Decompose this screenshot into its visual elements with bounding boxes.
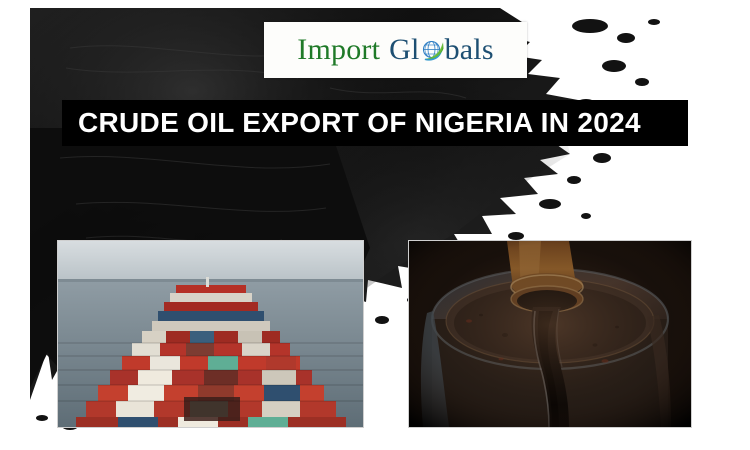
logo-word-globals-suffix: bals — [445, 35, 494, 65]
logo-word-globals-prefix: Gl — [389, 35, 419, 65]
poster-canvas: ImportGl bals CRUDE OIL EXPORT OF NIGERI… — [0, 0, 750, 450]
logo-word-import: Import — [297, 35, 380, 65]
container-ship-image — [58, 241, 363, 427]
crude-oil-barrel-photo — [408, 240, 692, 428]
brand-logo: ImportGl bals — [297, 35, 493, 65]
brand-logo-card[interactable]: ImportGl bals — [264, 22, 527, 78]
page-title: CRUDE OIL EXPORT OF NIGERIA IN 2024 — [62, 107, 641, 139]
title-banner: CRUDE OIL EXPORT OF NIGERIA IN 2024 — [62, 100, 688, 146]
crude-oil-image — [409, 241, 691, 427]
globe-icon — [420, 38, 445, 63]
container-ship-photo — [57, 240, 364, 428]
